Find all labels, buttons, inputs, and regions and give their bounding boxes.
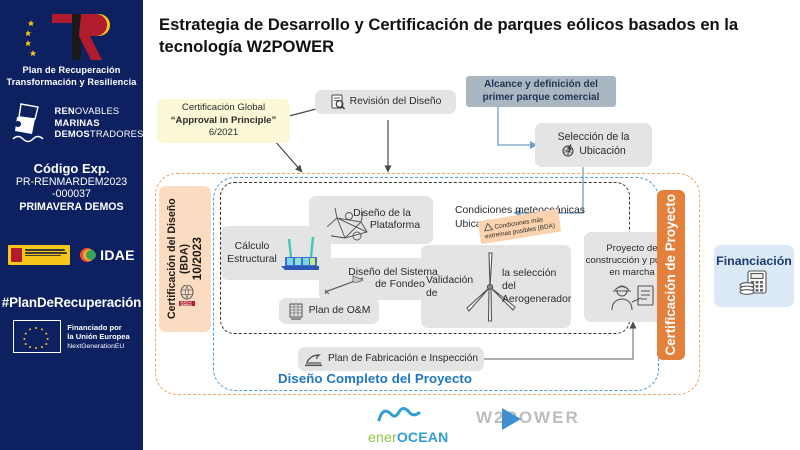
renmar-l1-rest: OVABLES bbox=[75, 105, 119, 116]
certificacion-diseno-bda-node[interactable]: Certificación del Diseño (BDA) 10/2023 B… bbox=[159, 186, 211, 332]
prtr-caption-l2: Transformación y Resiliencia bbox=[7, 77, 137, 89]
manufacturing-icon bbox=[304, 351, 324, 367]
page-title: Estrategia de Desarrollo y Certificación… bbox=[159, 14, 759, 58]
calculator-coins-icon bbox=[738, 269, 770, 297]
cert-proyecto-label: Certificación de Proyecto bbox=[665, 194, 677, 355]
eu-line2: la Unión Europea bbox=[67, 332, 129, 341]
seleccion-ubicacion-node[interactable]: Selección de la Ubicación bbox=[535, 123, 652, 167]
engineer-worker-icon bbox=[604, 282, 660, 312]
renmar-l3-rest: TRADORES bbox=[90, 128, 144, 139]
eu-flag-icon bbox=[13, 320, 61, 353]
bureau-veritas-logo-icon: BUREAUVERITAS bbox=[177, 285, 197, 307]
document-review-icon bbox=[330, 94, 346, 110]
svg-text:VERITAS: VERITAS bbox=[181, 303, 192, 307]
validacion-right: la selección del Aerogenerador bbox=[502, 267, 566, 306]
maintenance-plan-icon bbox=[288, 302, 304, 320]
w2power-wordmark: W2POWER bbox=[476, 408, 580, 428]
seleccion-l2: Ubicación bbox=[579, 145, 626, 157]
diseno-completo-label: Diseño Completo del Proyecto bbox=[278, 371, 472, 386]
cert-global-line2: “Approval in Principle” bbox=[171, 115, 277, 127]
alcance-label: Alcance y definición del primer parque c… bbox=[471, 79, 611, 104]
renmar-mark-icon bbox=[11, 101, 55, 149]
fem-mesh-icon bbox=[279, 233, 325, 273]
revision-diseno-node[interactable]: Revisión del Diseño bbox=[315, 90, 456, 114]
seleccion-l1: Selección de la bbox=[558, 131, 630, 143]
plan-fabricacion-label: Plan de Fabricación e Inspección bbox=[328, 353, 478, 365]
eu-line3: NextGenerationEU bbox=[67, 342, 129, 351]
hashtag-plan-recuperacion: #PlanDeRecuperación bbox=[2, 295, 142, 310]
cert-diseno-fecha: 10/2023 bbox=[191, 237, 203, 280]
prtr-monogram-icon bbox=[48, 11, 118, 63]
slide-content: Estrategia de Desarrollo y Certificación… bbox=[143, 0, 800, 450]
renmar-l3-bold: DEMOS bbox=[55, 128, 90, 139]
footer-logos: enerOCEAN W2POWER bbox=[143, 402, 800, 444]
cert-diseno-label: Certificación del Diseño (BDA) bbox=[166, 186, 191, 332]
spain-coat-of-arms-icon bbox=[11, 248, 22, 262]
warning-triangle-icon bbox=[483, 222, 493, 231]
calculo-l1: Cálculo bbox=[227, 240, 277, 253]
enerocean-logo: enerOCEAN bbox=[368, 404, 448, 445]
plan-om-label: Plan de O&M bbox=[309, 305, 371, 317]
codigo-title: Código Exp. bbox=[16, 163, 127, 176]
certificacion-global-node[interactable]: Certificación Global “Approval in Princi… bbox=[157, 99, 290, 143]
sidebar: Plan de Recuperación Transformación y Re… bbox=[0, 0, 143, 450]
enerocean-b: OCEAN bbox=[397, 429, 449, 445]
alcance-definicion-node[interactable]: Alcance y definición del primer parque c… bbox=[466, 76, 616, 107]
calculo-l2: Estructural bbox=[227, 253, 277, 266]
prtr-caption-l1: Plan de Recuperación bbox=[7, 65, 137, 77]
certificacion-proyecto-bar[interactable]: Certificación de Proyecto bbox=[657, 190, 685, 360]
enerocean-a: ener bbox=[368, 429, 397, 445]
codigo-line1: PR-RENMARDEM2023 bbox=[16, 176, 127, 189]
slide-root: Plan de Recuperación Transformación y Re… bbox=[0, 0, 800, 450]
location-globe-icon bbox=[561, 143, 577, 159]
renmar-wordmark: RENOVABLES MARINAS DEMOSTRADORES bbox=[55, 105, 144, 140]
idae-mark-icon bbox=[77, 245, 97, 265]
validacion-left: Validación de bbox=[426, 274, 480, 300]
financiacion-node[interactable]: Financiación bbox=[714, 245, 794, 307]
financiacion-label: Financiación bbox=[716, 255, 792, 267]
ministerio-text-lines bbox=[25, 249, 67, 258]
plan-om-node[interactable]: Plan de O&M bbox=[279, 298, 379, 324]
calculo-estructural-node[interactable]: Cálculo Estructural bbox=[221, 226, 331, 280]
enerocean-wave-icon bbox=[375, 404, 441, 424]
prtr-caption: Plan de Recuperación Transformación y Re… bbox=[7, 65, 137, 88]
idae-logo: IDAE bbox=[77, 245, 135, 265]
renmar-l1-bold: REN bbox=[55, 105, 75, 116]
eu-funding-logo: Financiado por la Unión Europea NextGene… bbox=[13, 320, 129, 353]
w2power-triangle-icon bbox=[502, 408, 521, 430]
enerocean-wordmark: enerOCEAN bbox=[368, 429, 448, 445]
validacion-aerogenerador-node[interactable]: Validación de la selección del Aerogener… bbox=[421, 245, 571, 328]
cert-global-line3: 6/2021 bbox=[209, 127, 238, 139]
codigo-expediente: Código Exp. PR-RENMARDEM2023 -000037 PRI… bbox=[16, 163, 127, 213]
diseno-plataforma-l2: Plataforma bbox=[370, 220, 420, 232]
codigo-line2: -000037 bbox=[16, 188, 127, 201]
prtr-logo bbox=[24, 11, 120, 63]
ministerio-logo bbox=[8, 245, 70, 265]
diseno-plataforma-l1: Diseño de la bbox=[344, 208, 420, 220]
eu-funding-text: Financiado por la Unión Europea NextGene… bbox=[67, 323, 129, 351]
cert-global-line1: Certificación Global bbox=[182, 102, 265, 114]
renmar-l2: MARINAS bbox=[55, 117, 100, 128]
eu-line1: Financiado por bbox=[67, 323, 129, 332]
renmar-logo: RENOVABLES MARINAS DEMOSTRADORES bbox=[11, 101, 133, 149]
idae-label: IDAE bbox=[100, 247, 135, 263]
revision-diseno-label: Revisión del Diseño bbox=[350, 96, 442, 108]
gov-logos-row: IDAE bbox=[8, 245, 135, 265]
plan-fabricacion-node[interactable]: Plan de Fabricación e Inspección bbox=[298, 347, 484, 371]
codigo-line3: PRIMAVERA DEMOS bbox=[16, 201, 127, 214]
